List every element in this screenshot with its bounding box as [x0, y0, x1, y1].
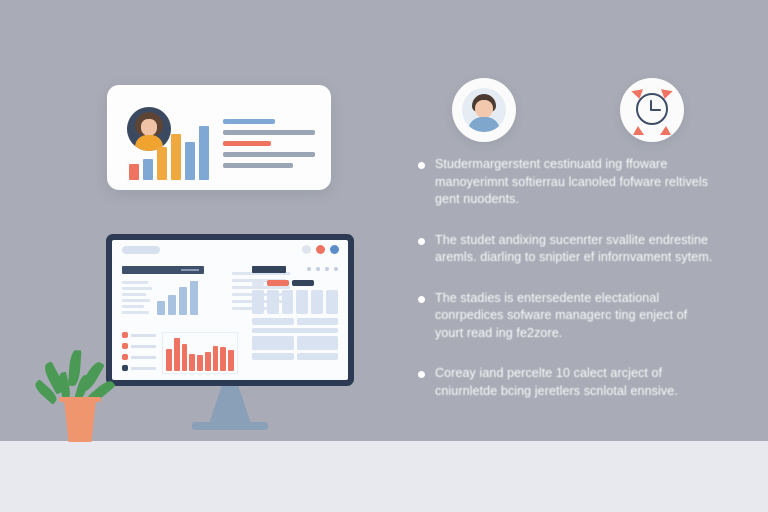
card-bar — [143, 159, 153, 180]
block — [297, 336, 339, 350]
badge-row — [452, 78, 684, 142]
card-bar — [157, 147, 167, 180]
line-body-2 — [223, 152, 315, 157]
monitor-screen[interactable] — [112, 240, 348, 380]
table-rows — [122, 279, 152, 315]
block-row-2 — [252, 336, 338, 350]
bullet-text: Coreay iand percelte 10 calect arcject o… — [435, 365, 718, 400]
filter-tags[interactable] — [252, 280, 338, 286]
red-chart-bar — [197, 355, 203, 371]
table-header-bar — [122, 266, 204, 274]
content-blocks — [252, 318, 338, 360]
dashboard-left-panel — [122, 266, 234, 315]
panel-action-icon[interactable] — [316, 267, 320, 271]
panel-action-icon[interactable] — [325, 267, 329, 271]
alarm-foot-right — [660, 126, 671, 135]
panel-title — [252, 266, 286, 273]
table-and-chart — [122, 279, 234, 315]
left-chart-bar — [168, 295, 176, 315]
legend-label — [131, 345, 156, 348]
bullet-item-1: Studermargerstent cestinuatd ing ffoware… — [418, 156, 718, 209]
legend-item-4[interactable] — [122, 365, 156, 371]
analytics-summary-card[interactable] — [107, 85, 331, 190]
red-chart-bar — [205, 352, 211, 371]
tag-red[interactable] — [267, 280, 289, 286]
kanban-column — [267, 290, 279, 314]
block-wide — [252, 328, 338, 333]
left-chart-bar — [179, 287, 187, 315]
panel-icon-group[interactable] — [307, 267, 338, 271]
feature-bullet-list: Studermargerstent cestinuatd ing ffoware… — [418, 156, 718, 423]
bullet-dot-icon — [418, 371, 425, 378]
illustration-scene: Studermargerstent cestinuatd ing ffoware… — [0, 0, 768, 512]
status-dot-orange[interactable] — [316, 245, 325, 254]
red-bar-chart-bars — [166, 335, 234, 371]
status-dot-blue[interactable] — [330, 245, 339, 254]
legend-item-3[interactable] — [122, 354, 156, 360]
legend-item-1[interactable] — [122, 332, 156, 338]
line-body-1 — [223, 130, 315, 135]
tag-neutral[interactable] — [252, 280, 264, 286]
block-row-3 — [252, 353, 338, 360]
search-input[interactable] — [122, 246, 160, 254]
block — [252, 318, 294, 325]
line-accent-red — [223, 141, 271, 146]
panel-action-icon[interactable] — [307, 267, 311, 271]
potted-plant — [48, 346, 112, 442]
kanban-column — [252, 290, 264, 314]
bullet-item-3: The stadies is entersedente electational… — [418, 290, 718, 343]
card-bar-chart — [129, 122, 211, 180]
bullet-dot-icon — [418, 238, 425, 245]
table-row — [122, 293, 146, 296]
bullet-text: The stadies is entersedente electational… — [435, 290, 718, 343]
legend-swatch — [122, 365, 128, 371]
kanban-columns — [252, 290, 338, 314]
legend-label — [131, 356, 156, 359]
red-chart-bar — [182, 344, 188, 371]
alarm-foot-left — [633, 126, 644, 135]
monitor-stand-base — [192, 422, 268, 430]
bullet-text: Studermargerstent cestinuatd ing ffoware… — [435, 156, 718, 209]
red-chart-bar — [228, 350, 234, 371]
time-tracking-badge[interactable] — [620, 78, 684, 142]
status-dot-grey[interactable] — [302, 245, 311, 254]
kanban-column — [326, 290, 338, 314]
red-chart-bar — [220, 347, 226, 371]
person-face — [475, 100, 493, 118]
card-text-lines — [223, 119, 315, 168]
legend-item-2[interactable] — [122, 343, 156, 349]
panel-action-icon[interactable] — [334, 267, 338, 271]
bullet-text: The studet andixing sucenrter svallite e… — [435, 232, 718, 267]
kanban-column — [296, 290, 308, 314]
card-bar — [129, 164, 139, 180]
kanban-column — [282, 290, 294, 314]
plant-pot — [61, 400, 99, 442]
legend-swatch — [122, 332, 128, 338]
block-row-1 — [252, 318, 338, 325]
left-chart-bar — [157, 301, 165, 315]
card-bar — [185, 142, 195, 180]
user-profile-badge[interactable] — [452, 78, 516, 142]
bullet-dot-icon — [418, 296, 425, 303]
table-row — [122, 299, 150, 302]
table-row — [122, 287, 152, 290]
table-row — [122, 281, 148, 284]
dashboard-topbar — [112, 240, 348, 260]
red-chart-bar — [213, 346, 219, 371]
chart-legend[interactable] — [122, 332, 156, 371]
person-body — [468, 117, 500, 132]
block — [297, 353, 339, 360]
person-avatar-icon — [462, 88, 506, 132]
legend-swatch — [122, 343, 128, 349]
line-body-3 — [223, 163, 293, 168]
tag-dark[interactable] — [292, 280, 314, 286]
block — [297, 318, 339, 325]
status-dot-group[interactable] — [302, 245, 339, 254]
line-accent-blue — [223, 119, 275, 124]
table-row — [122, 305, 144, 308]
legend-label — [131, 334, 156, 337]
table-row — [122, 311, 149, 314]
left-bar-chart — [157, 279, 198, 315]
dashboard-right-panel — [252, 266, 338, 360]
desk-surface — [0, 441, 768, 512]
card-bar — [199, 126, 209, 180]
red-chart-bar — [189, 354, 195, 371]
kanban-column — [311, 290, 323, 314]
legend-swatch — [122, 354, 128, 360]
bullet-item-4: Coreay iand percelte 10 calect arcject o… — [418, 365, 718, 400]
left-chart-bar — [190, 281, 198, 315]
red-chart-bar — [174, 338, 180, 371]
legend-label — [131, 367, 156, 370]
bullet-dot-icon — [418, 162, 425, 169]
block — [252, 353, 294, 360]
card-bar — [171, 134, 181, 180]
red-bar-chart — [162, 332, 238, 374]
alarm-clock-icon — [636, 93, 668, 125]
desktop-monitor[interactable] — [106, 234, 354, 386]
bullet-item-2: The studet andixing sucenrter svallite e… — [418, 232, 718, 267]
red-chart-bar — [166, 349, 172, 371]
block — [252, 336, 294, 350]
